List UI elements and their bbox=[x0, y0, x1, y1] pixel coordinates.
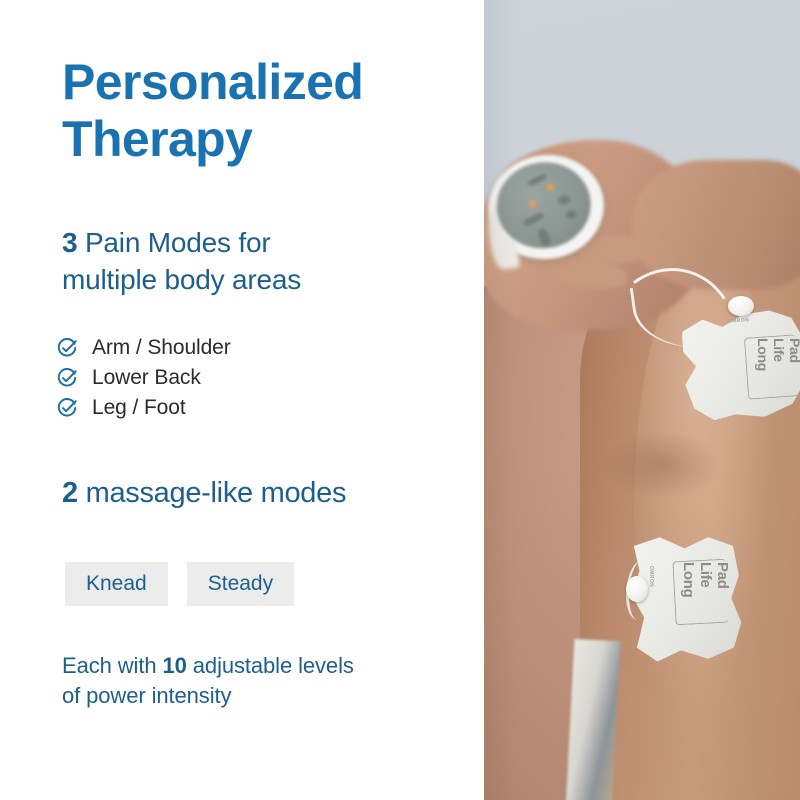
mode-chip-knead[interactable]: Knead bbox=[65, 562, 168, 606]
page-title-line2: Therapy bbox=[62, 111, 462, 168]
pad-logo-line2: Life bbox=[772, 338, 786, 362]
list-item: Arm / Shoulder bbox=[56, 333, 231, 363]
massage-modes-heading: 2 massage-like modes bbox=[62, 477, 482, 510]
device-button bbox=[527, 173, 548, 187]
photo-chair-leg bbox=[566, 639, 621, 800]
page-title: Personalized Therapy bbox=[62, 54, 462, 167]
device-button bbox=[536, 227, 552, 247]
pain-modes-count: 3 bbox=[62, 227, 77, 258]
footnote-pre: Each with bbox=[62, 653, 163, 678]
mode-chip-steady[interactable]: Steady bbox=[187, 562, 294, 606]
pain-modes-subheading: 3 Pain Modes for multiple body areas bbox=[62, 225, 462, 299]
pad-brand-label: OMRON bbox=[648, 566, 654, 587]
page-title-line1: Personalized bbox=[62, 54, 363, 110]
pad-logo-line1: Long bbox=[756, 338, 770, 371]
list-item-label: Lower Back bbox=[92, 366, 201, 390]
product-photo: OMRON Long Life Pad OMRON Long Life Pad bbox=[484, 0, 800, 800]
footnote-line2: of power intensity bbox=[62, 683, 231, 708]
pain-modes-text-line2: multiple body areas bbox=[62, 264, 301, 295]
text-panel: Personalized Therapy 3 Pain Modes for mu… bbox=[0, 0, 484, 800]
massage-mode-chips: Knead Steady bbox=[65, 562, 294, 606]
footnote-post: adjustable levels bbox=[187, 653, 354, 678]
pain-modes-text: Pain Modes for bbox=[77, 227, 270, 258]
pad-logo-line3: Pad bbox=[715, 562, 730, 589]
list-item-label: Leg / Foot bbox=[92, 396, 186, 420]
check-circle-icon bbox=[56, 337, 78, 359]
device-indicator-light bbox=[546, 183, 555, 192]
device-button bbox=[558, 195, 571, 206]
pad-logo-line2: Life bbox=[698, 562, 713, 587]
massage-modes-text: massage-like modes bbox=[78, 477, 346, 509]
pad-logo-line1: Long bbox=[681, 562, 696, 597]
product-feature-graphic: Personalized Therapy 3 Pain Modes for mu… bbox=[0, 0, 800, 800]
list-item: Leg / Foot bbox=[56, 393, 231, 423]
footnote-count: 10 bbox=[163, 653, 187, 678]
photo-knee-shadow bbox=[602, 430, 722, 500]
device-button bbox=[522, 211, 545, 227]
electrode-snap-connector-lower bbox=[626, 576, 648, 602]
list-item-label: Arm / Shoulder bbox=[92, 336, 231, 360]
device-button bbox=[566, 210, 577, 219]
device-indicator-light bbox=[528, 199, 537, 208]
intensity-footnote: Each with 10 adjustable levels of power … bbox=[62, 651, 462, 712]
electrode-snap-connector-upper bbox=[728, 296, 754, 316]
check-circle-icon bbox=[56, 397, 78, 419]
body-areas-list: Arm / Shoulder Lower Back Leg / Foot bbox=[56, 333, 231, 423]
list-item: Lower Back bbox=[56, 363, 231, 393]
pad-logo-line3: Pad bbox=[788, 338, 800, 363]
check-circle-icon bbox=[56, 367, 78, 389]
massage-modes-count: 2 bbox=[62, 477, 78, 509]
